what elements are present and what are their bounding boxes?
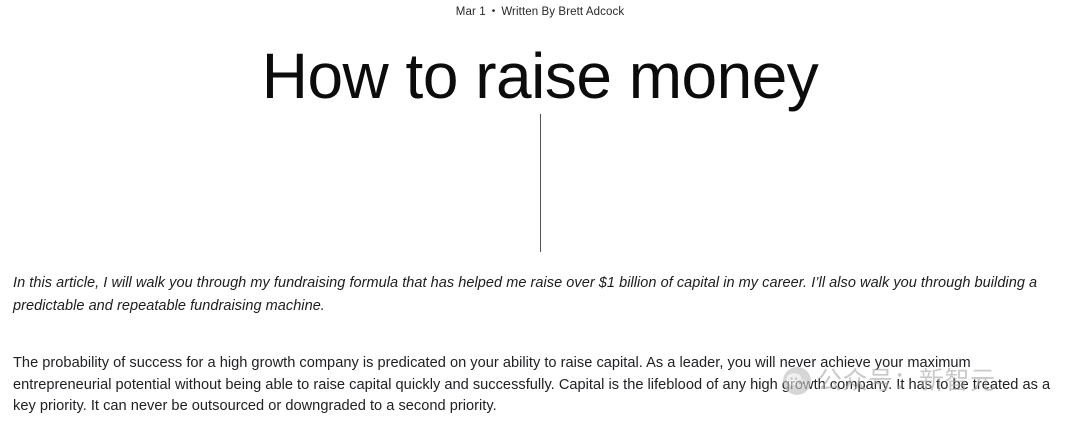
article-page: Mar 1•Written By Brett Adcock How to rai… <box>0 0 1080 426</box>
article-author: Written By Brett Adcock <box>501 6 624 18</box>
divider-container <box>0 114 1080 252</box>
vertical-divider <box>540 114 541 252</box>
byline-separator: • <box>492 6 496 17</box>
article-content: In this article, I will walk you through… <box>13 272 1068 418</box>
article-lede: In this article, I will walk you through… <box>13 272 1068 317</box>
publish-date: Mar 1 <box>456 6 486 18</box>
article-body-paragraph: The probability of success for a high gr… <box>13 317 1068 418</box>
page-title: How to raise money <box>0 38 1080 114</box>
article-byline: Mar 1•Written By Brett Adcock <box>0 5 1080 20</box>
